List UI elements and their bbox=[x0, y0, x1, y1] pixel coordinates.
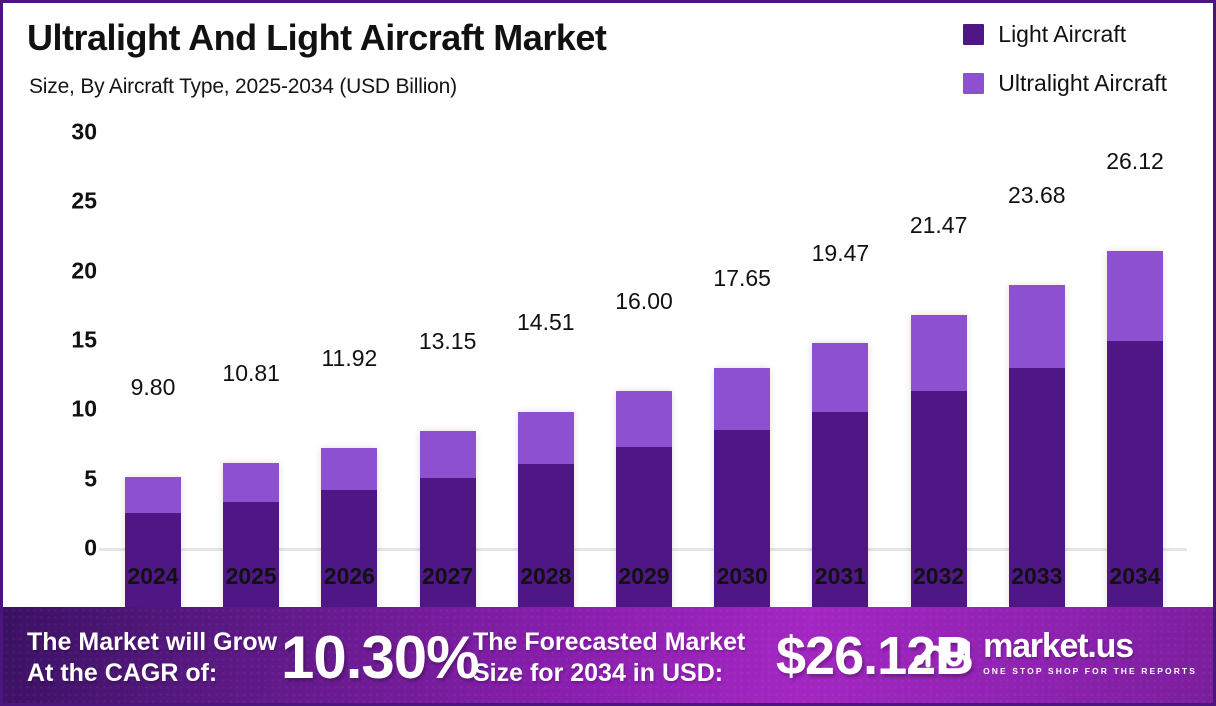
bar-2024[interactable] bbox=[125, 477, 181, 613]
cagr-value: 10.30% bbox=[281, 623, 479, 692]
forecast-label-line2: Size for 2034 in USD: bbox=[473, 658, 745, 689]
bar-segment-ultralight-aircraft[interactable] bbox=[420, 431, 476, 478]
cagr-label-line2: At the CAGR of: bbox=[27, 658, 277, 689]
bar-value-label-2033: 23.68 bbox=[977, 182, 1097, 209]
bar-2025[interactable] bbox=[223, 463, 279, 613]
y-axis-tick-label: 0 bbox=[37, 535, 97, 562]
infographic-card: Ultralight And Light Aircraft Market Siz… bbox=[0, 0, 1216, 706]
bar-segment-light-aircraft[interactable] bbox=[223, 502, 279, 613]
bar-segment-ultralight-aircraft[interactable] bbox=[1107, 251, 1163, 341]
y-axis-tick-label: 30 bbox=[37, 119, 97, 146]
forecast-label: The Forecasted Market Size for 2034 in U… bbox=[473, 627, 745, 689]
cagr-label-line1: The Market will Grow bbox=[27, 627, 277, 658]
bar-segment-ultralight-aircraft[interactable] bbox=[518, 412, 574, 464]
market-us-logo[interactable]: market.us ONE STOP SHOP FOR THE REPORTS bbox=[913, 629, 1197, 676]
cagr-label: The Market will Grow At the CAGR of: bbox=[27, 627, 277, 689]
summary-banner: The Market will Grow At the CAGR of: 10.… bbox=[3, 607, 1213, 703]
y-axis-tick-label: 20 bbox=[37, 257, 97, 284]
bar-value-label-2030: 17.65 bbox=[682, 265, 802, 292]
bar-2034[interactable] bbox=[1107, 251, 1163, 613]
y-axis-tick-label: 25 bbox=[37, 188, 97, 215]
y-axis-tick-label: 15 bbox=[37, 327, 97, 354]
bar-segment-ultralight-aircraft[interactable] bbox=[911, 315, 967, 391]
bar-value-label-2032: 21.47 bbox=[879, 212, 999, 239]
x-axis-tick-label-2034: 2034 bbox=[1075, 563, 1195, 590]
logo-tagline: ONE STOP SHOP FOR THE REPORTS bbox=[983, 666, 1197, 676]
bar-value-label-2034: 26.12 bbox=[1075, 148, 1195, 175]
bar-segment-ultralight-aircraft[interactable] bbox=[321, 448, 377, 491]
bar-segment-ultralight-aircraft[interactable] bbox=[714, 368, 770, 430]
y-axis-tick-label: 10 bbox=[37, 396, 97, 423]
bar-chart-plot-area: 051015202530 9.8010.8111.9213.1514.5116.… bbox=[3, 3, 1216, 613]
bar-segment-light-aircraft[interactable] bbox=[518, 464, 574, 613]
bar-segment-ultralight-aircraft[interactable] bbox=[223, 463, 279, 502]
bar-segment-ultralight-aircraft[interactable] bbox=[1009, 285, 1065, 368]
forecast-label-line1: The Forecasted Market bbox=[473, 627, 745, 658]
logo-mark-icon bbox=[913, 633, 973, 673]
bar-value-label-2031: 19.47 bbox=[780, 240, 900, 267]
y-axis-tick-label: 5 bbox=[37, 465, 97, 492]
bar-segment-ultralight-aircraft[interactable] bbox=[125, 477, 181, 513]
logo-text: market.us ONE STOP SHOP FOR THE REPORTS bbox=[983, 629, 1197, 676]
logo-wordmark: market.us bbox=[983, 629, 1133, 663]
bar-segment-ultralight-aircraft[interactable] bbox=[812, 343, 868, 412]
bar-segment-ultralight-aircraft[interactable] bbox=[616, 391, 672, 447]
bar-segment-light-aircraft[interactable] bbox=[420, 478, 476, 613]
bar-segment-light-aircraft[interactable] bbox=[321, 490, 377, 613]
